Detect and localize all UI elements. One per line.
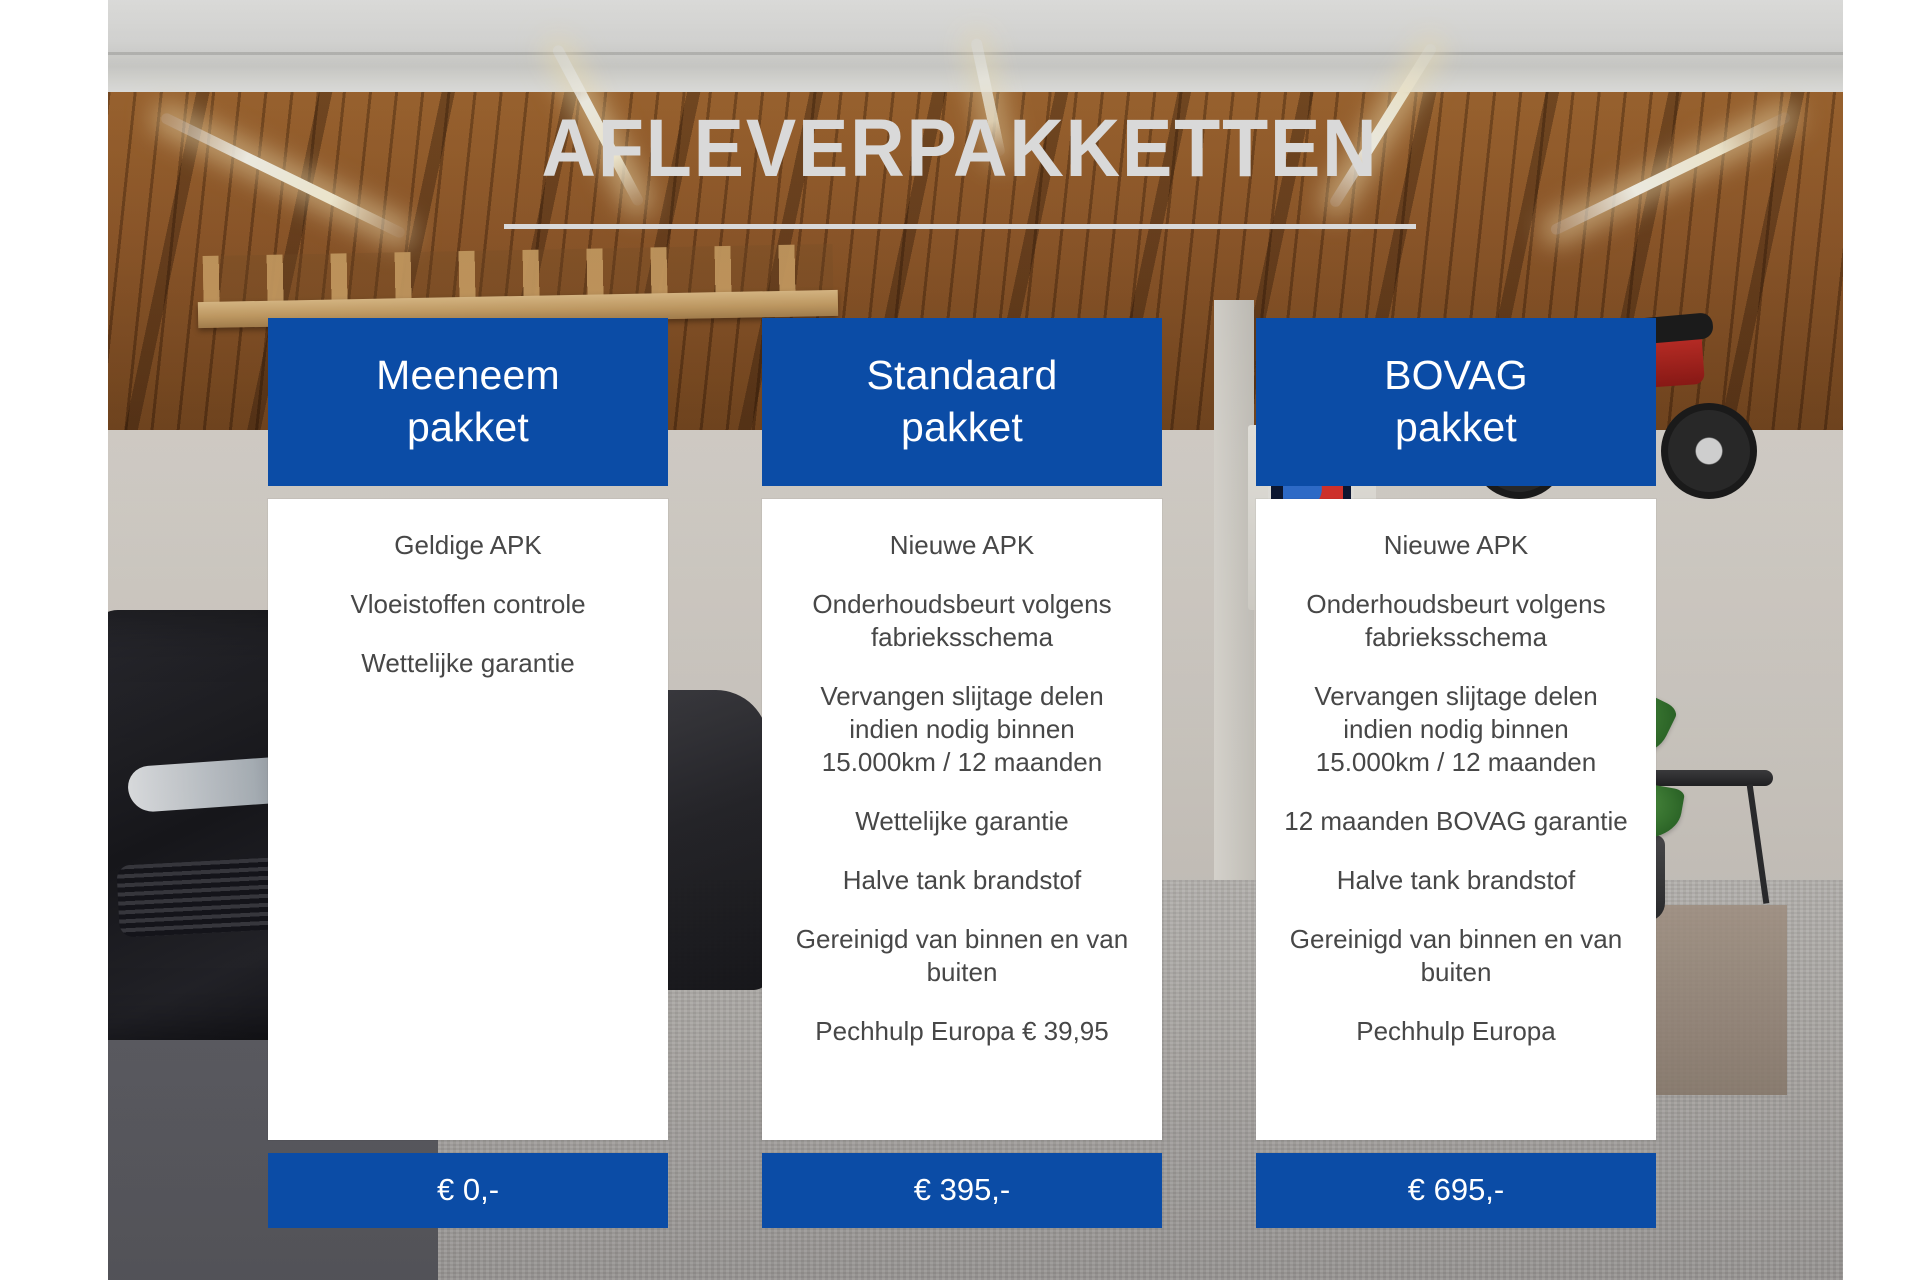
- feature-item: Halve tank brandstof: [843, 864, 1081, 897]
- feature-item: Nieuwe APK: [890, 529, 1035, 562]
- feature-item: Geldige APK: [394, 529, 541, 562]
- feature-item: Pechhulp Europa: [1356, 1015, 1555, 1048]
- feature-item: Gereinigd van binnen en van buiten: [1284, 923, 1628, 989]
- feature-item: Nieuwe APK: [1384, 529, 1529, 562]
- slide-root: elf AFLEVE: [0, 0, 1920, 1280]
- package-card-meeneem[interactable]: Meeneem pakket Geldige APK Vloeistoffen …: [268, 318, 668, 1228]
- package-name-line1: BOVAG: [1384, 349, 1528, 401]
- package-features: Geldige APK Vloeistoffen controle Wettel…: [268, 499, 668, 1140]
- feature-item: Halve tank brandstof: [1337, 864, 1575, 897]
- package-name-line2: pakket: [376, 401, 560, 453]
- package-header: Meeneem pakket: [268, 318, 668, 486]
- package-name-line1: Meeneem: [376, 349, 560, 401]
- package-features: Nieuwe APK Onderhoudsbeurt volgens fabri…: [1256, 499, 1656, 1140]
- package-price: € 695,-: [1256, 1153, 1656, 1228]
- package-name-line2: pakket: [866, 401, 1057, 453]
- feature-item: Vloeistoffen controle: [350, 588, 585, 621]
- feature-item: Wettelijke garantie: [361, 647, 574, 680]
- package-header: Standaard pakket: [762, 318, 1162, 486]
- package-card-bovag[interactable]: BOVAG pakket Nieuwe APK Onderhoudsbeurt …: [1256, 318, 1656, 1228]
- feature-item: Vervangen slijtage delen indien nodig bi…: [790, 680, 1134, 779]
- package-card-standaard[interactable]: Standaard pakket Nieuwe APK Onderhoudsbe…: [762, 318, 1162, 1228]
- title-block: AFLEVERPAKKETTEN: [0, 108, 1920, 229]
- title-divider: [504, 224, 1416, 229]
- feature-item: Wettelijke garantie: [855, 805, 1068, 838]
- package-features: Nieuwe APK Onderhoudsbeurt volgens fabri…: [762, 499, 1162, 1140]
- package-price: € 395,-: [762, 1153, 1162, 1228]
- package-name-line2: pakket: [1384, 401, 1528, 453]
- package-name-line1: Standaard: [866, 349, 1057, 401]
- feature-item: Vervangen slijtage delen indien nodig bi…: [1284, 680, 1628, 779]
- package-price: € 0,-: [268, 1153, 668, 1228]
- package-header: BOVAG pakket: [1256, 318, 1656, 486]
- page-title: AFLEVERPAKKETTEN: [77, 108, 1843, 190]
- package-cards: Meeneem pakket Geldige APK Vloeistoffen …: [268, 318, 1656, 1228]
- feature-item: Gereinigd van binnen en van buiten: [790, 923, 1134, 989]
- feature-item: 12 maanden BOVAG garantie: [1284, 805, 1628, 838]
- feature-item: Onderhoudsbeurt volgens fabrieksschema: [1284, 588, 1628, 654]
- feature-item: Onderhoudsbeurt volgens fabrieksschema: [790, 588, 1134, 654]
- feature-item: Pechhulp Europa € 39,95: [815, 1015, 1108, 1048]
- motorcycle-wheel: [1661, 403, 1757, 499]
